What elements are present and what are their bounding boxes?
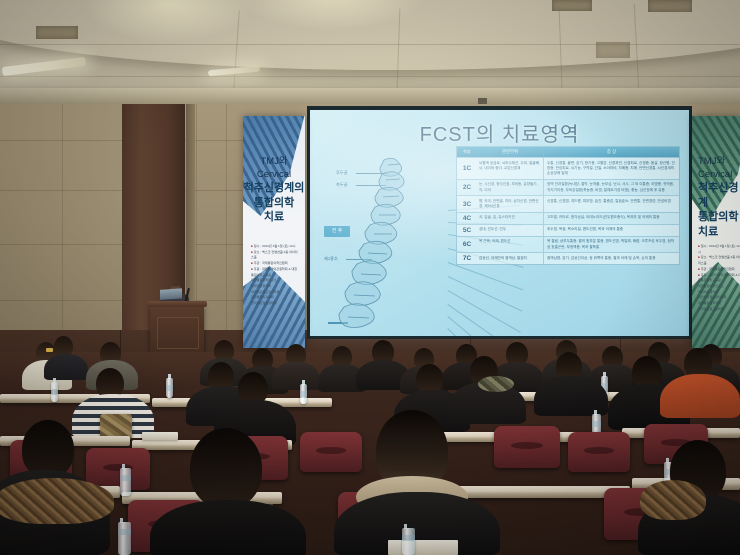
cell-part: 뇌혈액 공급로, 뇌하수체선, 두피, 얼굴뼈, 뇌, 내이와 중이, 교감신경…	[477, 158, 543, 179]
bullet-icon: ■	[698, 244, 701, 248]
cell-vertebra: 3C	[457, 196, 477, 211]
ceiling-seam	[0, 76, 740, 77]
symptom-table: 척추 관련부위 증 상 1C뇌혈액 공급로, 뇌하수체선, 두피, 얼굴뼈, 뇌…	[456, 146, 680, 265]
banner-detail-line: ■ 주관 : 국제통합의학인협회	[698, 267, 740, 273]
ceiling	[0, 0, 740, 108]
banner-right-line5: 치료	[698, 225, 740, 240]
table-row: 4C코, 입술, 입, 유스타키관고초열, 카타르, 청각상실, 아데노이드(인…	[457, 212, 679, 224]
banner-detail-line: ■ 일시 : 2014년 3월 1일 (토) 14시	[698, 244, 740, 255]
bullet-icon: ■	[698, 255, 701, 259]
cell-vertebra: 5C	[457, 225, 477, 236]
podium	[150, 305, 204, 357]
handout-paper	[388, 540, 458, 555]
projected-slide: FCST의 치료영역 후두골 측두골 제1흉추 전 후	[310, 110, 689, 336]
banner-left-line3: 척추신경계의	[243, 181, 305, 196]
bullet-icon: ■	[251, 244, 254, 248]
banner-right-details: ■ 일시 : 2014년 3월 1일 (토) 14시■ 장소 : 백스코 컨벤션…	[698, 244, 740, 313]
table-row: 3C뺨, 외이, 안면골, 치아, 삼차신경, 안면신경, 제5뇌신경신경통, …	[457, 195, 679, 211]
banner-left-line4: 통합의학	[243, 196, 305, 211]
banner-detail-line: ■ 후원 : 대한치과턱관절학회 & 대한통합의학교육원	[698, 273, 740, 284]
col-head-symptom: 증 상	[543, 147, 679, 157]
event-banner-left: TMJ와 Cervical 척추신경계의 통합의학 치료 ■ 일시 : 2014…	[243, 116, 305, 348]
cell-symptom: 정맥 안과질환(녹내장, 결막, 눈꺼풀, 눈부심, 난시, 사시, 그 외 이…	[543, 180, 679, 195]
cell-part: 성대, 인두선, 인두	[477, 225, 543, 236]
banner-detail-line: ■ 장소 : 백스코 컨벤션홀 2층 아이리스홀	[251, 250, 299, 261]
banner-right-text: TMJ와 Cervical 척추신경계 통합의학 치료	[692, 156, 740, 239]
banner-right-line3: 척추신경계	[698, 181, 740, 210]
cell-vertebra: 4C	[457, 213, 477, 224]
cell-symptom: 점액낭염, 감기, 갑상선이상, 등 위쪽의 통증, 팔과 어깨 및 손목, 손…	[543, 253, 679, 264]
slide-title: FCST의 치료영역	[310, 118, 689, 147]
podium-top	[147, 301, 207, 307]
desk	[440, 486, 630, 498]
table-row: 6C목 근육, 어깨, 편도선목 결림, 상부두통증, 팔의 윗부분 통증, 편…	[457, 236, 679, 252]
water-bottle	[402, 528, 415, 555]
col-head-part: 관련부위	[477, 147, 543, 157]
bullet-icon: ■	[698, 273, 701, 277]
table-body: 1C뇌혈액 공급로, 뇌하수체선, 두피, 얼굴뼈, 뇌, 내이와 중이, 교감…	[457, 157, 679, 264]
table-row: 7C갑상선, 어깨안의 점액낭, 팔꿈치점액낭염, 감기, 갑상선이상, 등 위…	[457, 252, 679, 264]
banner-left-line1: TMJ와	[260, 156, 287, 167]
cell-vertebra: 1C	[457, 158, 477, 179]
event-banner-right: TMJ와 Cervical 척추신경계 통합의학 치료 ■ 일시 : 2014년…	[692, 116, 740, 348]
water-bottle	[51, 382, 58, 402]
bullet-icon: ■	[698, 267, 701, 271]
cell-part: 목 근육, 어깨, 편도선	[477, 237, 543, 252]
cell-symptom: 후두염, 목쉼, 목소리질, 편도선염, 목과 어깨의 통증	[543, 225, 679, 236]
podium-front-panel	[157, 317, 199, 349]
banner-left-text: TMJ와 Cervical 척추신경계의 통합의학 치료	[243, 156, 305, 225]
banner-detail-line: ■ 후원 : 대한치과턱관절학회 & 대한통합의학교육원	[251, 267, 299, 278]
cell-vertebra: 6C	[457, 237, 477, 252]
bullet-icon: ■	[251, 250, 254, 254]
spine-vector	[322, 152, 452, 330]
banner-right-line1: TMJ와	[698, 156, 725, 167]
chair	[568, 432, 630, 472]
cell-symptom: 목 결림, 상부두통증, 팔의 윗부분 통증, 편도선염, 백일해, 폐렴, 크…	[543, 237, 679, 252]
cell-vertebra: 7C	[457, 253, 477, 264]
water-bottle	[300, 384, 307, 404]
banner-right-line4: 통합의학	[698, 210, 740, 225]
table-row: 5C성대, 인두선, 인두후두염, 목쉼, 목소리질, 편도선염, 목과 어깨의…	[457, 224, 679, 236]
table-row: 1C뇌혈액 공급로, 뇌하수체선, 두피, 얼굴뼈, 뇌, 내이와 중이, 교감…	[457, 157, 679, 179]
cell-symptom: 고초열, 카타르, 청각상실, 아데노이드(인두편도증식), 목과부 및 어깨의…	[543, 213, 679, 224]
ceiling-vent	[36, 26, 78, 39]
cell-part: 갑상선, 어깨안의 점액낭, 팔꿈치	[477, 253, 543, 264]
cell-part: 눈, 시신경, 청각신경, 부비동, 유양돌기, 혀, 이마	[477, 180, 543, 195]
water-bottle	[118, 522, 131, 555]
banner-detail-line: 한국턱관절교정학회	[251, 301, 299, 307]
banner-detail-line: ■ 일시 : 2014년 3월 1일 (토) 14시	[251, 244, 299, 250]
cell-symptom: 신경통, 신경염, 여드름, 피부염, 습진, 통증감, 칼슘효소, 안면통, …	[543, 196, 679, 211]
banner-left-line5: 치료	[243, 210, 305, 225]
water-bottle	[120, 468, 131, 496]
water-bottle	[166, 378, 173, 398]
cell-symptom: 두통, 신경통, 불면, 감기, 현기증, 고혈압, 신경과민, 신경피로, 신…	[543, 158, 679, 179]
cell-part: 뺨, 외이, 안면골, 치아, 삼차신경, 안면신경, 제5뇌신경	[477, 196, 543, 211]
cervical-spine-diagram: 후두골 측두골 제1흉추 전 후	[322, 152, 452, 330]
ceiling-vent	[552, 0, 592, 11]
banner-right-line2: Cervical	[698, 169, 732, 180]
banner-left-line2: Cervical	[257, 169, 291, 180]
table-header-row: 척추 관련부위 증 상	[457, 147, 679, 157]
bullet-icon: ■	[251, 267, 254, 271]
cell-part: 코, 입술, 입, 유스타키관	[477, 213, 543, 224]
ceiling-vent	[648, 0, 692, 12]
ceiling-vent	[596, 42, 630, 58]
col-head-vertebra: 척추	[457, 147, 477, 157]
laptop-screen	[160, 288, 182, 300]
chair	[494, 426, 560, 468]
table-row: 2C눈, 시신경, 청각신경, 부비동, 유양돌기, 혀, 이마정맥 안과질환(…	[457, 179, 679, 195]
cell-vertebra: 2C	[457, 180, 477, 195]
banner-left-details: ■ 일시 : 2014년 3월 1일 (토) 14시■ 장소 : 백스코 컨벤션…	[251, 244, 299, 307]
lecture-hall-photo: FCST의 치료영역 후두골 측두골 제1흉추 전 후	[0, 0, 740, 555]
ceiling-light	[2, 57, 86, 76]
chair	[300, 432, 362, 472]
handout-paper	[142, 432, 178, 440]
banner-detail-line: 한국턱관절교정학회	[698, 307, 740, 313]
banner-detail-line: ■ 장소 : 백스코 컨벤션홀 2층 아이리스홀	[698, 255, 740, 266]
bullet-icon: ■	[251, 261, 254, 265]
